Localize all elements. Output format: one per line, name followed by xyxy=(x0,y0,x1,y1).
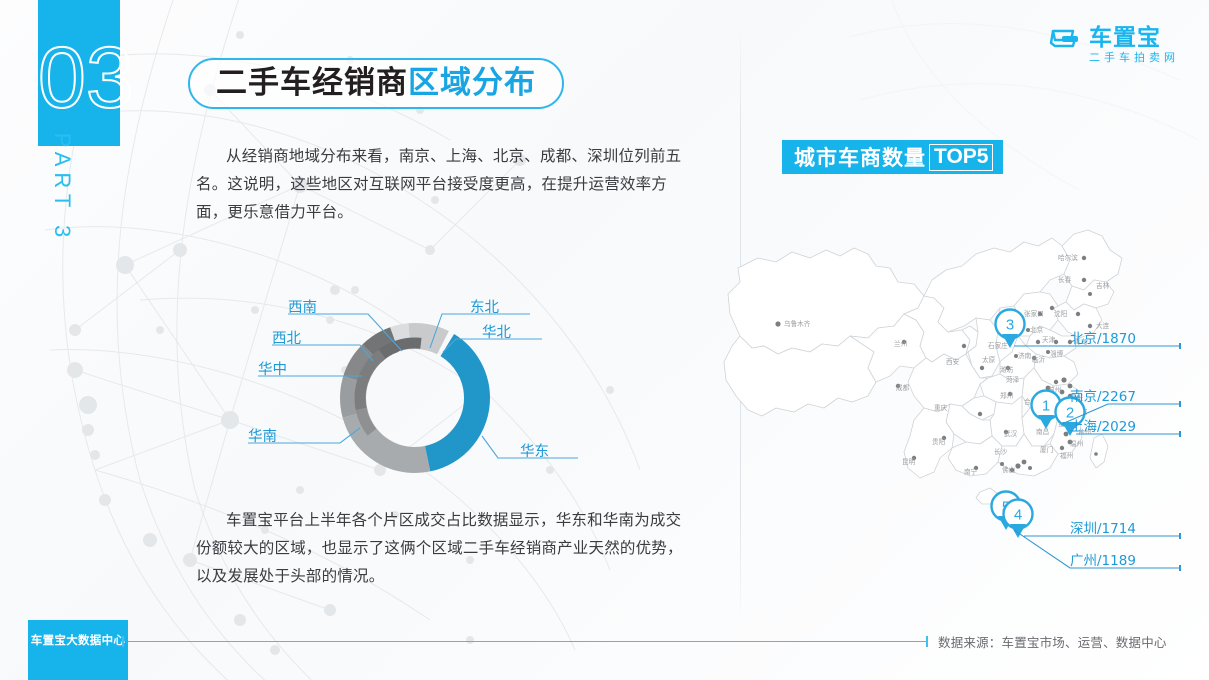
brand-name: 车置宝 xyxy=(1089,26,1179,50)
footer-badge: 车置宝大数据中心 xyxy=(28,620,128,680)
svg-text:石家庄: 石家庄 xyxy=(988,341,1008,350)
map-city-label-shenzhen: 深圳/1714 xyxy=(1070,517,1136,537)
summary-paragraph: 车置宝平台上半年各个片区成交占比数据显示，华东和华南为成交份额较大的区域，也显示… xyxy=(196,506,696,590)
province-yunnan xyxy=(904,404,954,478)
svg-text:临沂: 临沂 xyxy=(1032,355,1046,364)
svg-text:潍坊: 潍坊 xyxy=(1000,365,1014,374)
svg-text:淄博: 淄博 xyxy=(1050,349,1064,358)
page-title-dark: 二手车经销商 xyxy=(216,68,408,99)
svg-text:长春: 长春 xyxy=(1058,275,1072,284)
brand-tagline: 二手车拍卖网 xyxy=(1089,50,1179,66)
footer-source-text: 数据来源：车置宝市场、运营、数据中心 xyxy=(938,632,1167,651)
svg-text:济南: 济南 xyxy=(1018,351,1032,360)
donut-svg xyxy=(230,288,590,493)
intro-paragraph: 从经销商地域分布来看，南京、上海、北京、成都、深圳位列前五名。这说明，这些地区对… xyxy=(196,142,696,226)
page-title-blue: 区域分布 xyxy=(408,68,536,99)
svg-text:武汉: 武汉 xyxy=(1004,429,1018,438)
svg-text:佛山: 佛山 xyxy=(1002,465,1015,474)
svg-text:温州: 温州 xyxy=(1070,439,1083,448)
top5-banner: 城市车商数量 TOP5 xyxy=(782,140,1003,174)
donut-label-xibei: 西北 xyxy=(272,327,301,348)
map-city-label-shanghai: 上海/2029 xyxy=(1070,415,1136,435)
svg-text:张家口: 张家口 xyxy=(1024,309,1044,318)
part-number: 03 xyxy=(38,28,120,128)
car-logo-icon xyxy=(1049,26,1083,56)
donut-label-huadong: 华东 xyxy=(520,440,549,461)
china-map: 乌鲁木齐 哈尔滨 长春 吉林 沈阳 大连 张家口 北京 天津 石家庄 太原 济南… xyxy=(718,196,1188,596)
svg-text:厦门: 厦门 xyxy=(1040,445,1053,454)
svg-text:天津: 天津 xyxy=(1042,336,1056,344)
donut-label-dongbei: 东北 xyxy=(470,296,499,317)
donut-label-huanan: 华南 xyxy=(248,425,277,446)
svg-text:哈尔滨: 哈尔滨 xyxy=(1058,253,1078,262)
svg-text:北京: 北京 xyxy=(1030,325,1044,334)
map-callout-endcaps xyxy=(1179,343,1181,571)
svg-text:吉林: 吉林 xyxy=(1096,281,1110,290)
donut-label-xinan: 西南 xyxy=(288,296,317,317)
brand-logo: 车置宝 二手车拍卖网 xyxy=(1049,26,1179,66)
svg-text:西安: 西安 xyxy=(946,357,960,366)
svg-text:成都: 成都 xyxy=(896,383,910,392)
region-distribution-donut-chart: 西南 西北 华中 华南 东北 华北 华东 xyxy=(230,288,590,493)
svg-text:南宁: 南宁 xyxy=(964,467,978,476)
svg-text:菏泽: 菏泽 xyxy=(1006,375,1020,384)
slide-root: 03 PART 3 二手车经销商区域分布 从经销商地域分布来看，南京、上海、北京… xyxy=(0,0,1209,680)
page-title: 二手车经销商区域分布 xyxy=(188,58,564,109)
svg-text:南昌: 南昌 xyxy=(1036,427,1049,436)
marker-rank-1: 1 xyxy=(1042,398,1050,415)
map-city-label-nanjing: 南京/2267 xyxy=(1070,385,1136,405)
donut-label-huabei: 华北 xyxy=(482,321,511,342)
part-label: PART 3 xyxy=(49,118,75,258)
map-city-label-beijing: 北京/1870 xyxy=(1070,327,1136,347)
svg-text:贵阳: 贵阳 xyxy=(932,437,945,446)
svg-text:太原: 太原 xyxy=(982,355,996,364)
svg-text:郑州: 郑州 xyxy=(1000,392,1013,400)
province-taiwan xyxy=(1090,434,1108,468)
svg-text:沈阳: 沈阳 xyxy=(1054,309,1067,318)
svg-text:重庆: 重庆 xyxy=(934,403,948,412)
map-city-label-guangzhou: 广州/1189 xyxy=(1070,549,1136,569)
svg-text:长沙: 长沙 xyxy=(994,447,1008,456)
marker-rank-4: 4 xyxy=(1014,507,1022,524)
svg-text:福州: 福州 xyxy=(1060,451,1073,460)
svg-text:昆明: 昆明 xyxy=(902,458,916,466)
svg-text:兰州: 兰州 xyxy=(894,339,907,348)
donut-label-huazhong: 华中 xyxy=(258,358,287,379)
footer-rule xyxy=(128,641,928,642)
top5-banner-badge: TOP5 xyxy=(929,144,993,171)
footer-line-cap-right xyxy=(926,636,928,647)
top5-banner-label: 城市车商数量 xyxy=(794,142,926,172)
footer-line-cap-left xyxy=(122,636,124,647)
marker-rank-3: 3 xyxy=(1006,317,1014,334)
svg-text:乌鲁木齐: 乌鲁木齐 xyxy=(784,319,811,328)
